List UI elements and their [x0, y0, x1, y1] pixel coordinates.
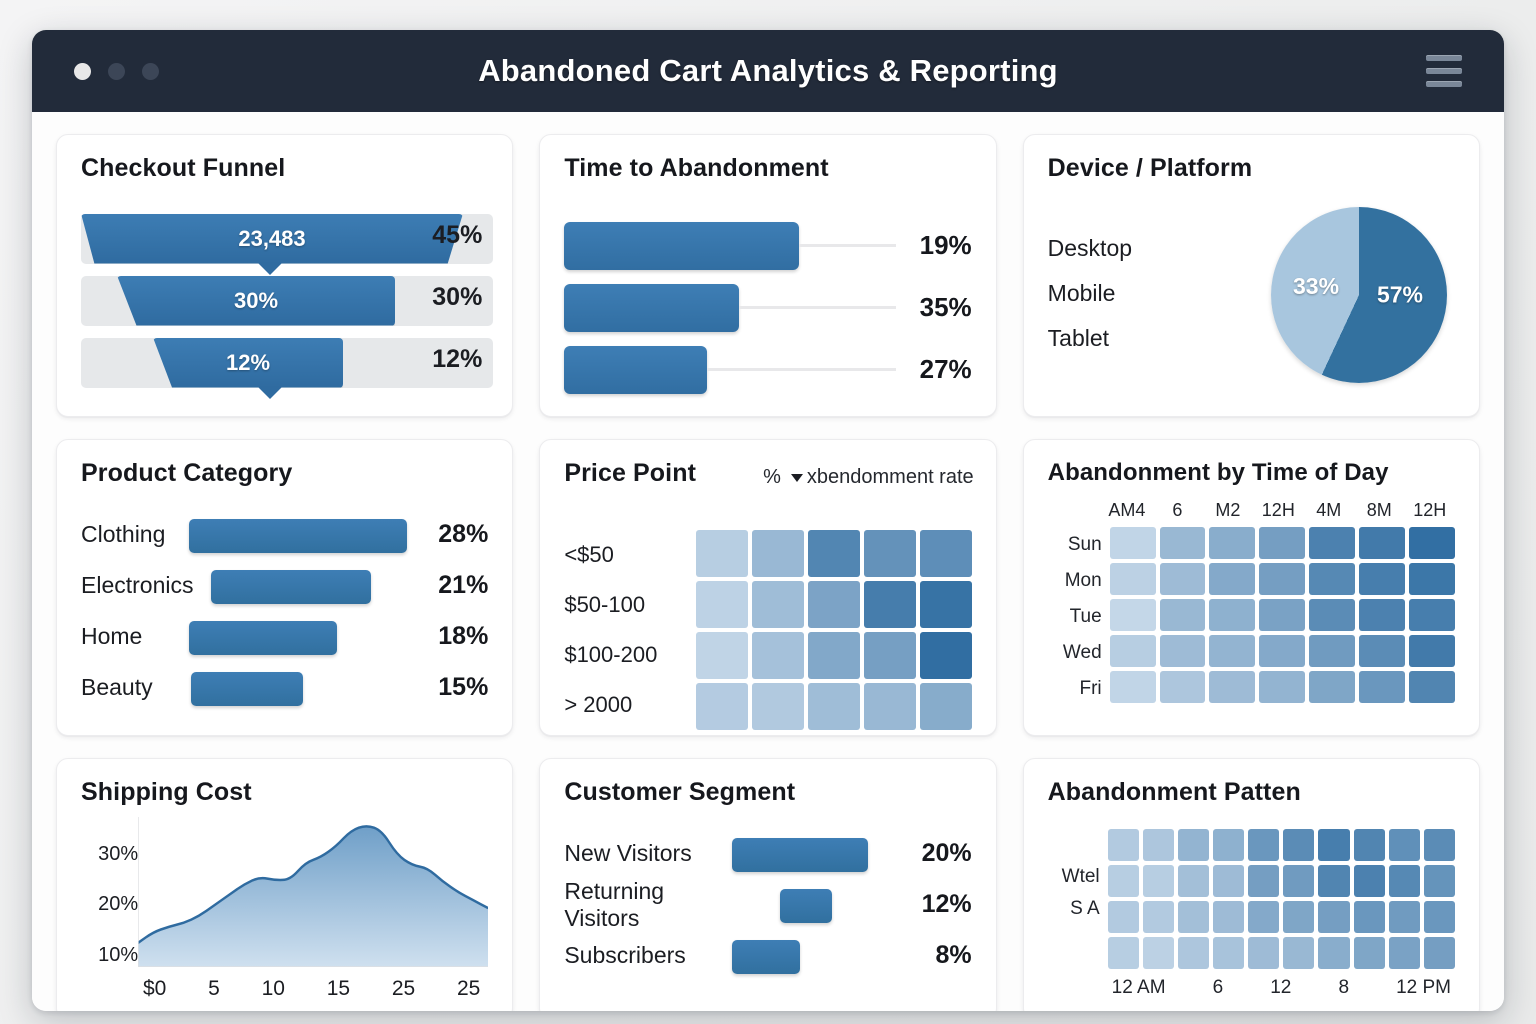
- heatmap-cell[interactable]: [1424, 829, 1455, 861]
- heatmap-cell[interactable]: [808, 581, 860, 628]
- legend-item-tablet[interactable]: Tablet: [1048, 325, 1132, 352]
- heatmap-cell[interactable]: [1108, 865, 1139, 897]
- heatmap-cell[interactable]: [1389, 937, 1420, 969]
- heatmap-cell[interactable]: [1309, 563, 1355, 595]
- heatmap-row-labels: Wtel S A: [1048, 829, 1100, 969]
- row-label: Wed: [1048, 642, 1102, 664]
- funnel-segment: 12%: [153, 338, 343, 388]
- heatmap-cell[interactable]: [696, 581, 748, 628]
- row-label: Mon: [1048, 570, 1102, 592]
- column-label: AM4: [1102, 500, 1152, 521]
- legend-item-mobile[interactable]: Mobile: [1048, 280, 1132, 307]
- heatmap-annotation: % xbendomment rate: [763, 466, 974, 489]
- x-tick: 12 PM: [1396, 977, 1451, 999]
- card-title: Shipping Cost: [81, 779, 488, 807]
- funnel-stage-pct: 45%: [432, 221, 482, 250]
- heatmap-cell[interactable]: [1409, 527, 1455, 559]
- heatmap-cell[interactable]: [1143, 829, 1174, 861]
- funnel-arrow-icon: [257, 386, 283, 399]
- column-label: 6: [1152, 500, 1202, 521]
- heatmap-cell[interactable]: [1209, 635, 1255, 667]
- dashboard-grid: Checkout Funnel 23,483 45% 30% 30% 12%: [32, 112, 1504, 1011]
- heatmap-cell[interactable]: [1110, 527, 1156, 559]
- bar-zone: [732, 931, 897, 981]
- bar-zone: [189, 510, 414, 560]
- heatmap-cell[interactable]: [920, 683, 972, 730]
- heatmap-cell[interactable]: [808, 683, 860, 730]
- pie-legend: Desktop Mobile Tablet: [1048, 207, 1132, 385]
- price-point-heatmap: <$50 $50-100 $100-200 > 2000: [564, 530, 971, 730]
- row-label: Fri: [1048, 678, 1102, 700]
- heatmap-cell[interactable]: [1359, 599, 1405, 631]
- funnel-stage-pct: 30%: [432, 283, 482, 312]
- row-label: <$50: [564, 542, 684, 568]
- funnel-segment: 23,483: [81, 214, 463, 264]
- card-title: Abandonment by Time of Day: [1048, 460, 1455, 486]
- heatmap-cell[interactable]: [1143, 937, 1174, 969]
- heatmap-cell[interactable]: [1178, 901, 1209, 933]
- bar: [564, 222, 799, 270]
- heatmap-cell[interactable]: [1354, 937, 1385, 969]
- heatmap-cell[interactable]: [1359, 527, 1405, 559]
- app-window: Abandoned Cart Analytics & Reporting Che…: [32, 30, 1504, 1011]
- hamburger-line: [1426, 68, 1462, 74]
- bar: [191, 672, 303, 706]
- x-axis: 12 AM 6 12 8 12 PM: [1108, 977, 1455, 999]
- heatmap-cell[interactable]: [1160, 599, 1206, 631]
- list-item[interactable]: Subscribers 8%: [564, 931, 971, 981]
- pie-chart: Desktop Mobile Tablet 57% 33%: [1048, 207, 1455, 385]
- card-time-to-abandonment: Time to Abandonment 19% 35% 27%: [539, 134, 996, 417]
- row-label: S A: [1048, 898, 1100, 920]
- connector-line: [799, 244, 895, 247]
- heatmap-column-labels: AM4 6 M2 12H 4M 8M 12H: [1048, 500, 1455, 521]
- card-price-point: Price Point % xbendomment rate <$50 $50-…: [539, 439, 996, 736]
- heatmap-cell[interactable]: [920, 632, 972, 679]
- product-category-chart: Clothing 28% Electronics 21% Home: [81, 510, 488, 713]
- card-time-of-day: Abandonment by Time of Day AM4 6 M2 12H …: [1023, 439, 1480, 736]
- heatmap-cell[interactable]: [1409, 563, 1455, 595]
- row-label: > 2000: [564, 692, 684, 718]
- annotation-text: xbendomment rate: [807, 466, 974, 489]
- row-label: Electronics: [81, 572, 189, 599]
- list-item[interactable]: Clothing 28%: [81, 510, 488, 560]
- funnel-chart: 23,483 45% 30% 30% 12% 12%: [81, 209, 488, 389]
- percent-symbol: %: [763, 466, 781, 489]
- caret-down-icon: [791, 474, 803, 482]
- heatmap-cell[interactable]: [1318, 937, 1349, 969]
- funnel-stage[interactable]: 12% 12%: [81, 333, 488, 389]
- heatmap-cell[interactable]: [1248, 937, 1279, 969]
- card-abandonment-pattern: Abandonment Patten Wtel S A 12 AM 6 12 8…: [1023, 758, 1480, 1011]
- x-tick: $0: [143, 977, 166, 1001]
- funnel-stage[interactable]: 30% 30%: [81, 271, 488, 327]
- x-tick: 25: [392, 977, 415, 1001]
- abandonment-pattern-heatmap: Wtel S A 12 AM 6 12 8 12 PM: [1048, 829, 1455, 999]
- heatmap-cell[interactable]: [1409, 599, 1455, 631]
- card-customer-segment: Customer Segment New Visitors 20% Return…: [539, 758, 996, 1011]
- heatmap-cell[interactable]: [1309, 635, 1355, 667]
- card-title: Time to Abandonment: [564, 155, 971, 183]
- bar-zone: [189, 561, 414, 611]
- row-value: 12%: [898, 890, 972, 919]
- bar-zone: [189, 612, 414, 662]
- plot-area[interactable]: [138, 817, 488, 997]
- heatmap-cell[interactable]: [1359, 635, 1405, 667]
- heatmap-cell[interactable]: [1354, 901, 1385, 933]
- heatmap-cell[interactable]: [1259, 527, 1305, 559]
- x-tick: 12 AM: [1112, 977, 1166, 999]
- heatmap-cell[interactable]: [1359, 563, 1405, 595]
- bar: [189, 519, 407, 553]
- heatmap-cell[interactable]: [696, 683, 748, 730]
- heatmap-cell[interactable]: [1160, 671, 1206, 703]
- heatmap-cell[interactable]: [864, 683, 916, 730]
- row-label: Sun: [1048, 534, 1102, 556]
- area-series: [138, 817, 488, 967]
- bar-value: 35%: [896, 292, 972, 323]
- x-tick: 12: [1270, 977, 1291, 999]
- heatmap-cell[interactable]: [1309, 599, 1355, 631]
- hamburger-line: [1426, 81, 1462, 87]
- heatmap-cell[interactable]: [1424, 865, 1455, 897]
- row-value: 8%: [898, 941, 972, 970]
- bar-value: 19%: [896, 230, 972, 261]
- connector-line: [707, 368, 895, 371]
- title-bar: Abandoned Cart Analytics & Reporting: [32, 30, 1504, 112]
- heatmap-grid[interactable]: [1110, 527, 1455, 707]
- legend-item-desktop[interactable]: Desktop: [1048, 235, 1132, 262]
- bar: [732, 940, 800, 974]
- bar: [564, 284, 739, 332]
- time-to-abandonment-chart: 19% 35% 27%: [564, 215, 971, 401]
- heatmap-cell[interactable]: [1259, 671, 1305, 703]
- heatmap-grid[interactable]: [1108, 829, 1455, 969]
- y-tick: 10%: [81, 944, 138, 967]
- y-axis: 30% 20% 10%: [81, 817, 138, 997]
- row-label: Beauty: [81, 674, 189, 701]
- funnel-stage[interactable]: 23,483 45%: [81, 209, 488, 265]
- bar-zone: [189, 663, 414, 713]
- heatmap-cell[interactable]: [864, 632, 916, 679]
- card-title: Device / Platform: [1048, 155, 1455, 183]
- row-label: $100-200: [564, 642, 684, 668]
- heatmap-cell[interactable]: [1160, 635, 1206, 667]
- heatmap-cell[interactable]: [1389, 829, 1420, 861]
- card-product-category: Product Category Clothing 28% Electronic…: [56, 439, 513, 736]
- bar: [211, 570, 371, 604]
- column-label: 12H: [1405, 500, 1455, 521]
- heatmap-grid[interactable]: [696, 530, 971, 730]
- pie-slice-label-mobile: 33%: [1293, 273, 1339, 300]
- heatmap-cell[interactable]: [1110, 671, 1156, 703]
- heatmap-cell[interactable]: [1178, 865, 1209, 897]
- heatmap-cell[interactable]: [696, 530, 748, 577]
- x-tick: 5: [208, 977, 220, 1001]
- heatmap-cell[interactable]: [1213, 937, 1244, 969]
- heatmap-cell[interactable]: [1259, 563, 1305, 595]
- heatmap-cell[interactable]: [1389, 901, 1420, 933]
- heatmap-cell[interactable]: [1143, 865, 1174, 897]
- pie-graphic[interactable]: 57% 33%: [1271, 207, 1447, 383]
- column-label: M2: [1203, 500, 1253, 521]
- heatmap-cell[interactable]: [1248, 901, 1279, 933]
- heatmap-cell[interactable]: [1283, 937, 1314, 969]
- heatmap-cell[interactable]: [1424, 937, 1455, 969]
- column-label: 8M: [1354, 500, 1404, 521]
- card-title: Checkout Funnel: [81, 155, 488, 183]
- heatmap-cell[interactable]: [752, 530, 804, 577]
- heatmap-cell[interactable]: [1409, 671, 1455, 703]
- bar: [564, 346, 707, 394]
- row-label: New Visitors: [564, 840, 732, 867]
- heatmap-cell[interactable]: [1209, 527, 1255, 559]
- heatmap-cell[interactable]: [864, 581, 916, 628]
- heatmap-cell[interactable]: [1354, 829, 1385, 861]
- row-label: Tue: [1048, 606, 1102, 628]
- row-value: 28%: [414, 520, 488, 549]
- column-label: 4M: [1304, 500, 1354, 521]
- close-button[interactable]: [74, 63, 91, 80]
- time-of-day-heatmap: AM4 6 M2 12H 4M 8M 12H Sun Mon Tue Wed F…: [1048, 500, 1455, 707]
- heatmap-row-labels: <$50 $50-100 $100-200 > 2000: [564, 530, 684, 730]
- heatmap-cell[interactable]: [1108, 937, 1139, 969]
- hamburger-line: [1426, 55, 1462, 61]
- connector-line: [739, 306, 895, 309]
- heatmap-cell[interactable]: [1209, 671, 1255, 703]
- heatmap-cell[interactable]: [808, 530, 860, 577]
- hamburger-menu-icon[interactable]: [1426, 55, 1462, 87]
- row-value: 21%: [414, 571, 488, 600]
- bar: [780, 889, 832, 923]
- heatmap-cell[interactable]: [1359, 671, 1405, 703]
- heatmap-cell[interactable]: [1108, 829, 1139, 861]
- page-title: Abandoned Cart Analytics & Reporting: [32, 53, 1504, 89]
- column-label: 12H: [1253, 500, 1303, 521]
- heatmap-cell[interactable]: [1143, 901, 1174, 933]
- minimize-button[interactable]: [108, 63, 125, 80]
- heatmap-cell[interactable]: [1213, 865, 1244, 897]
- heatmap-cell[interactable]: [1283, 865, 1314, 897]
- funnel-stage-pct: 12%: [432, 345, 482, 374]
- heatmap-cell[interactable]: [864, 530, 916, 577]
- heatmap-cell[interactable]: [1110, 563, 1156, 595]
- heatmap-cell[interactable]: [1283, 829, 1314, 861]
- bar-value: 27%: [896, 354, 972, 385]
- heatmap-cell[interactable]: [1178, 829, 1209, 861]
- heatmap-cell[interactable]: [808, 632, 860, 679]
- heatmap-cell[interactable]: [1354, 865, 1385, 897]
- list-item[interactable]: Beauty 15%: [81, 663, 488, 713]
- card-checkout-funnel: Checkout Funnel 23,483 45% 30% 30% 12%: [56, 134, 513, 417]
- row-label: $50-100: [564, 592, 684, 618]
- heatmap-cell[interactable]: [1309, 671, 1355, 703]
- x-axis: $0 5 10 15 25 25: [143, 977, 480, 1001]
- row-value: 18%: [414, 622, 488, 651]
- heatmap-cell[interactable]: [1209, 599, 1255, 631]
- row-label: Home: [81, 623, 189, 650]
- heatmap-row-labels: Sun Mon Tue Wed Fri: [1048, 527, 1102, 707]
- list-item[interactable]: Home 18%: [81, 612, 488, 662]
- pie-slice-label-desktop: 57%: [1377, 281, 1423, 308]
- heatmap-cell[interactable]: [920, 530, 972, 577]
- heatmap-cell[interactable]: [1309, 527, 1355, 559]
- heatmap-cell[interactable]: [1259, 635, 1305, 667]
- list-item[interactable]: Returning Visitors 12%: [564, 880, 971, 930]
- heatmap-cell[interactable]: [1108, 901, 1139, 933]
- card-device-platform: Device / Platform Desktop Mobile Tablet …: [1023, 134, 1480, 417]
- bar: [189, 621, 337, 655]
- heatmap-cell[interactable]: [1318, 901, 1349, 933]
- card-shipping-cost: Shipping Cost 30% 20% 10%: [56, 758, 513, 1011]
- list-item[interactable]: Electronics 21%: [81, 561, 488, 611]
- bar-zone: [732, 880, 897, 930]
- row-label: Wtel: [1048, 866, 1100, 888]
- row-value: 15%: [414, 673, 488, 702]
- heatmap-body: Sun Mon Tue Wed Fri: [1048, 527, 1455, 707]
- maximize-button[interactable]: [142, 63, 159, 80]
- heatmap-cell[interactable]: [1283, 901, 1314, 933]
- heatmap-cell[interactable]: [1259, 599, 1305, 631]
- heatmap-cell[interactable]: [696, 632, 748, 679]
- card-title: Product Category: [81, 460, 488, 488]
- heatmap-cell[interactable]: [1213, 829, 1244, 861]
- y-tick: 30%: [81, 843, 138, 866]
- heatmap-cell[interactable]: [1160, 563, 1206, 595]
- heatmap-cell[interactable]: [1409, 635, 1455, 667]
- heatmap-cell[interactable]: [1248, 829, 1279, 861]
- shipping-cost-chart: 30% 20% 10%: [81, 817, 488, 997]
- heatmap-cell[interactable]: [1318, 865, 1349, 897]
- heatmap-cell[interactable]: [1178, 937, 1209, 969]
- bar: [732, 838, 868, 872]
- card-title: Abandonment Patten: [1048, 779, 1455, 807]
- row-value: 20%: [898, 839, 972, 868]
- heatmap-cell[interactable]: [1318, 829, 1349, 861]
- heatmap-cell[interactable]: [1110, 635, 1156, 667]
- y-tick: 20%: [81, 893, 138, 916]
- bar-zone: [732, 829, 897, 879]
- row-label: Subscribers: [564, 942, 732, 969]
- heatmap-cell[interactable]: [1213, 901, 1244, 933]
- x-tick: 15: [327, 977, 350, 1001]
- list-item[interactable]: New Visitors 20%: [564, 829, 971, 879]
- funnel-segment: 30%: [117, 276, 395, 326]
- heatmap-cell[interactable]: [920, 581, 972, 628]
- heatmap-cell[interactable]: [752, 632, 804, 679]
- heatmap-cell[interactable]: [1424, 901, 1455, 933]
- x-tick: 25: [457, 977, 480, 1001]
- heatmap-cell[interactable]: [752, 581, 804, 628]
- x-tick: 6: [1213, 977, 1224, 999]
- card-title: Customer Segment: [564, 779, 971, 807]
- heatmap-cell[interactable]: [1389, 865, 1420, 897]
- x-tick: 8: [1338, 977, 1349, 999]
- bar-row[interactable]: 27%: [564, 339, 971, 401]
- heatmap-cell[interactable]: [752, 683, 804, 730]
- x-tick: 10: [262, 977, 285, 1001]
- customer-segment-chart: New Visitors 20% Returning Visitors 12% …: [564, 829, 971, 981]
- heatmap-cell[interactable]: [1110, 599, 1156, 631]
- window-controls: [74, 63, 159, 80]
- row-label: Returning Visitors: [564, 878, 732, 932]
- heatmap-cell[interactable]: [1160, 527, 1206, 559]
- funnel-arrow-icon: [257, 262, 283, 275]
- heatmap-cell[interactable]: [1248, 865, 1279, 897]
- row-label: Clothing: [81, 521, 189, 548]
- bar-row[interactable]: 35%: [564, 277, 971, 339]
- heatmap-cell[interactable]: [1209, 563, 1255, 595]
- bar-row[interactable]: 19%: [564, 215, 971, 277]
